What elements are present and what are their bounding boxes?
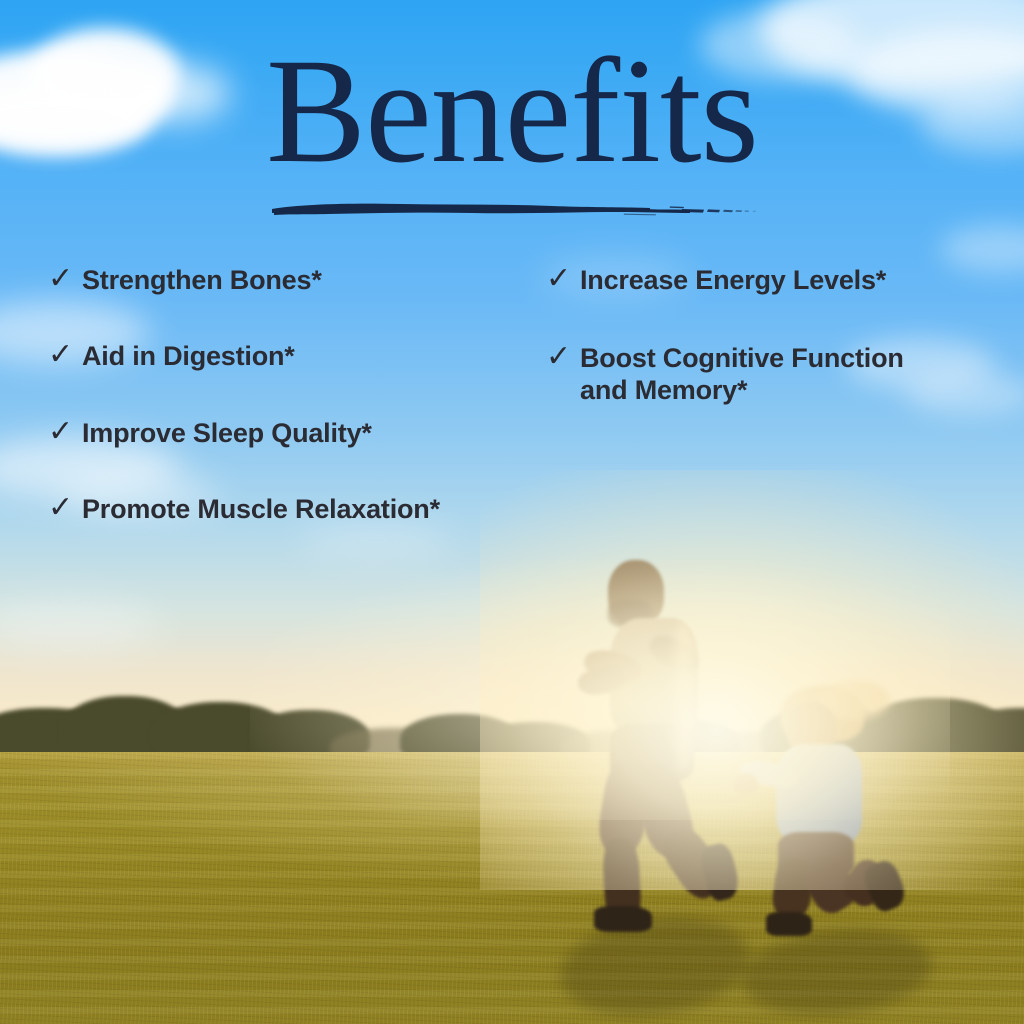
check-icon: ✓ xyxy=(48,262,82,296)
benefit-item: ✓ Promote Muscle Relaxation* xyxy=(48,491,518,525)
check-icon: ✓ xyxy=(546,340,580,374)
adult-rim-light xyxy=(674,622,694,772)
child-runner xyxy=(756,686,926,942)
check-icon: ✓ xyxy=(546,262,580,296)
benefit-label: Boost Cognitive Function and Memory* xyxy=(580,340,940,406)
adult-runner xyxy=(588,556,768,936)
child-torso xyxy=(776,744,862,846)
benefit-label: Strengthen Bones* xyxy=(82,262,322,296)
check-icon: ✓ xyxy=(48,338,82,372)
benefit-label: Increase Energy Levels* xyxy=(580,262,886,296)
benefit-item: ✓ Strengthen Bones* xyxy=(48,262,518,296)
check-icon: ✓ xyxy=(48,415,82,449)
benefit-item: ✓ Increase Energy Levels* xyxy=(546,262,996,296)
benefit-item: ✓ Improve Sleep Quality* xyxy=(48,415,518,449)
benefits-poster: Benefits ✓ Strengthen Bones* ✓ Aid in Di… xyxy=(0,0,1024,1024)
brush-stroke-underline-icon xyxy=(272,200,760,220)
benefit-label: Promote Muscle Relaxation* xyxy=(82,491,440,525)
benefit-item: ✓ Boost Cognitive Function and Memory* xyxy=(546,340,996,406)
page-title: Benefits xyxy=(0,36,1024,186)
benefits-left-column: ✓ Strengthen Bones* ✓ Aid in Digestion* … xyxy=(48,262,518,567)
child-hand xyxy=(734,774,758,794)
benefits-right-column: ✓ Increase Energy Levels* ✓ Boost Cognit… xyxy=(546,262,996,450)
benefit-label: Improve Sleep Quality* xyxy=(82,415,372,449)
benefit-label: Aid in Digestion* xyxy=(82,338,295,372)
check-icon: ✓ xyxy=(48,491,82,525)
adult-shoe-front xyxy=(594,906,652,932)
benefit-item: ✓ Aid in Digestion* xyxy=(48,338,518,372)
child-shoe-front xyxy=(766,912,812,936)
